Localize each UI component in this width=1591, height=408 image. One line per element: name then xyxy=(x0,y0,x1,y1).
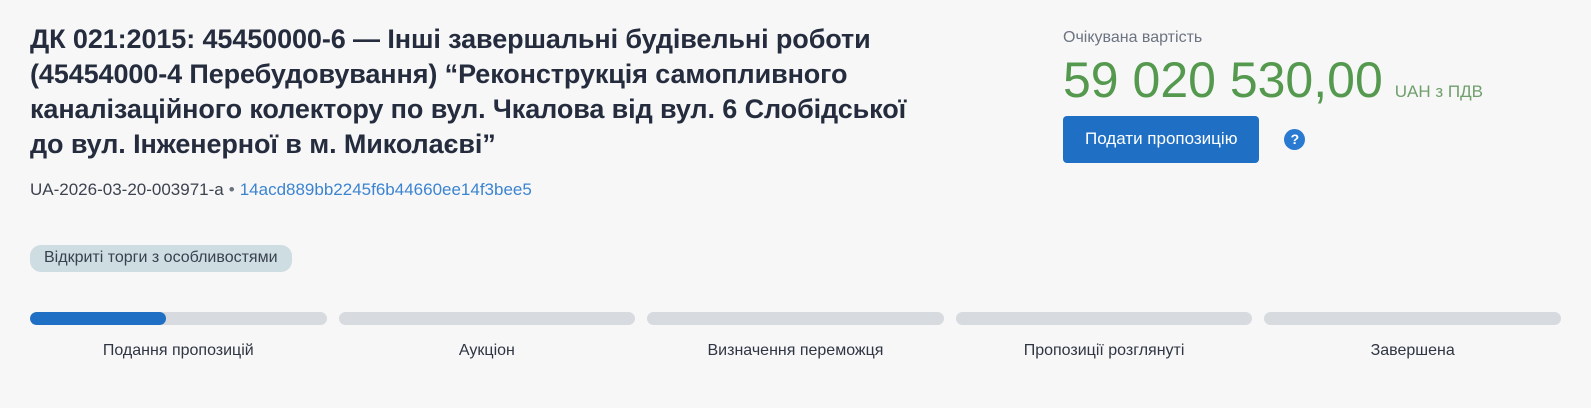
step-label: Аукціон xyxy=(459,341,515,361)
stepper-step[interactable]: Аукціон xyxy=(339,312,636,361)
tender-title-block: ДК 021:2015: 45450000-6 — Інші завершаль… xyxy=(30,22,920,201)
step-label: Пропозиції розглянуті xyxy=(1024,341,1185,361)
tender-identifiers: UA-2026-03-20-003971-a•14acd889bb2245f6b… xyxy=(30,179,920,201)
step-label: Подання пропозицій xyxy=(103,341,254,361)
step-progress-track xyxy=(30,312,327,325)
page-title: ДК 021:2015: 45450000-6 — Інші завершаль… xyxy=(30,22,920,162)
action-row: Подати пропозицію ? xyxy=(1063,116,1563,163)
stepper-step[interactable]: Завершена xyxy=(1264,312,1561,361)
step-progress-track xyxy=(1264,312,1561,325)
procedure-badge-row: Відкриті торги з особливостями xyxy=(30,245,292,272)
step-progress-fill xyxy=(30,312,166,325)
stepper-step[interactable]: Подання пропозицій xyxy=(30,312,327,361)
expected-value-row: 59 020 530,00 UAH з ПДВ xyxy=(1063,50,1563,110)
step-label: Завершена xyxy=(1371,341,1455,361)
tender-stepper: Подання пропозиційАукціонВизначення пере… xyxy=(30,312,1561,361)
expected-value-currency: UAH з ПДВ xyxy=(1395,82,1483,102)
tender-header-page: ДК 021:2015: 45450000-6 — Інші завершаль… xyxy=(0,0,1591,408)
expected-value-amount: 59 020 530,00 xyxy=(1063,50,1383,110)
stepper-step[interactable]: Визначення переможця xyxy=(647,312,944,361)
step-progress-track xyxy=(647,312,944,325)
tender-id: UA-2026-03-20-003971-a xyxy=(30,180,224,199)
question-mark-icon[interactable]: ? xyxy=(1284,129,1305,150)
id-separator: • xyxy=(224,180,240,199)
status-badge: Відкриті торги з особливостями xyxy=(30,245,292,272)
stepper-step[interactable]: Пропозиції розглянуті xyxy=(956,312,1253,361)
step-progress-track xyxy=(956,312,1253,325)
tender-hash-link[interactable]: 14acd889bb2245f6b44660ee14f3bee5 xyxy=(240,180,532,199)
submit-proposal-button[interactable]: Подати пропозицію xyxy=(1063,116,1259,163)
expected-value-block: Очікувана вартість 59 020 530,00 UAH з П… xyxy=(1063,28,1563,163)
expected-value-label: Очікувана вартість xyxy=(1063,28,1563,48)
step-label: Визначення переможця xyxy=(708,341,884,361)
step-progress-track xyxy=(339,312,636,325)
